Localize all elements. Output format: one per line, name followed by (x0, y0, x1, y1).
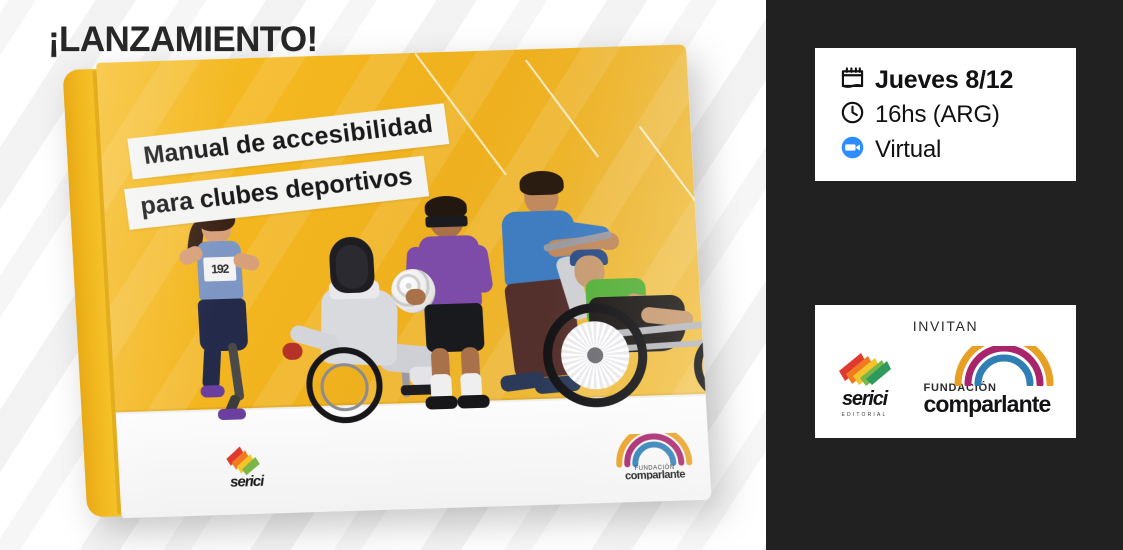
invite-title: INVITAN (815, 318, 1076, 334)
serici-logo: serici EDITORIAL (828, 347, 902, 418)
cover-serici-logo: serici (210, 441, 283, 491)
comparlante-logo: FUNDACIÓN comparlante (924, 346, 1064, 418)
right-panel: Jueves 8/12 16hs (ARG) (766, 0, 1123, 550)
left-panel: ¡LANZAMIENTO! 1 (0, 0, 766, 550)
event-info-card: Jueves 8/12 16hs (ARG) (815, 48, 1076, 181)
event-mode-row: Virtual (839, 134, 1076, 166)
serici-book-mark-icon (835, 347, 895, 387)
cover-title-normal: Manual de (142, 128, 274, 170)
invite-card: INVITAN serici (815, 305, 1076, 438)
book-mockup: 192 (62, 62, 702, 532)
illustration-runner-with-prosthetic: 192 (172, 208, 275, 417)
clock-icon (839, 99, 866, 131)
illustration-racing-chair (537, 240, 711, 409)
event-date-text: Jueves 8/12 (875, 66, 1013, 95)
video-camera-icon (839, 134, 866, 166)
runner-bib-number: 192 (203, 257, 236, 282)
svg-text:serici: serici (230, 473, 266, 491)
comparlante-wordmark: comparlante (924, 391, 1064, 418)
rainbow-arc-icon (950, 346, 1058, 386)
event-time-text: 16hs (ARG) (875, 101, 1000, 129)
event-date-row: Jueves 8/12 (839, 64, 1076, 96)
page-title: ¡LANZAMIENTO! (48, 20, 318, 60)
invite-logos: serici EDITORIAL (815, 346, 1076, 418)
event-mode-text: Virtual (875, 136, 941, 164)
book-cover: 192 (96, 44, 711, 518)
serici-wordmark: serici (828, 388, 902, 411)
cover-comparlante-logo: FUNDACIÓN comparlante (598, 432, 711, 481)
calendar-icon (839, 64, 866, 96)
serici-subtitle: EDITORIAL (828, 412, 902, 418)
event-time-row: 16hs (ARG) (839, 99, 1076, 131)
poster-root: ¡LANZAMIENTO! 1 (0, 0, 1123, 550)
